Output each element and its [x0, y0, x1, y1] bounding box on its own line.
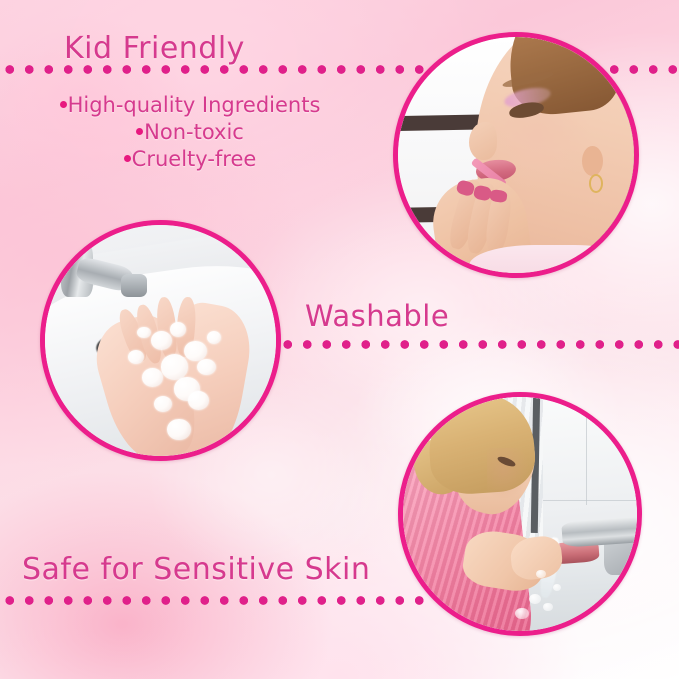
soap-bubble — [142, 368, 163, 386]
soap-bubble — [188, 391, 209, 409]
water-droplet — [529, 594, 541, 605]
soapy-hands-photo — [40, 220, 281, 461]
soap-bubble — [167, 419, 190, 440]
lipgloss-scene — [398, 37, 634, 273]
kid-friendly-heading: Kid Friendly — [64, 31, 245, 66]
photo-clip — [45, 225, 276, 456]
nose — [469, 122, 497, 160]
girl-applying-lip-gloss-photo — [393, 32, 639, 278]
tile-grout-line — [586, 397, 588, 505]
bullet-text: Cruelty-free — [132, 147, 257, 171]
washable-heading: Washable — [305, 299, 449, 333]
soap-bubble — [197, 359, 215, 375]
rinse-scene — [403, 397, 637, 631]
bullet-text: Non-toxic — [144, 120, 244, 144]
soap-bubble — [184, 341, 207, 362]
list-item: Non-toxic — [0, 119, 380, 146]
shoulder — [469, 245, 634, 273]
handwash-scene — [45, 225, 276, 456]
water-droplet — [543, 603, 552, 611]
dotted-divider-middle — [278, 340, 679, 349]
bullet-dot-icon — [60, 101, 67, 108]
bullet-text: High-quality Ingredients — [68, 93, 321, 117]
photo-clip — [398, 37, 634, 273]
list-item: Cruelty-free — [0, 146, 380, 173]
sensitive-skin-heading: Safe for Sensitive Skin — [22, 552, 370, 587]
soap-bubble — [207, 331, 221, 344]
faucet-spout — [561, 516, 637, 547]
dotted-divider-bottom — [0, 596, 430, 605]
soap-bubble — [154, 396, 172, 412]
faucet-tip — [121, 274, 146, 297]
bullet-dot-icon — [124, 155, 131, 162]
bullet-dot-icon — [136, 128, 143, 135]
photo-clip — [403, 397, 637, 631]
list-item: High-quality Ingredients — [0, 92, 380, 119]
earring — [589, 174, 603, 193]
kid-friendly-bullet-list: High-quality Ingredients Non-toxic Cruel… — [0, 92, 380, 173]
tile-grout-line — [532, 500, 637, 502]
face-shading — [487, 448, 529, 499]
soap-bubble — [161, 354, 189, 379]
soap-bubble — [170, 322, 186, 337]
toddler-rinsing-hands-photo — [398, 392, 642, 636]
soap-bubble — [151, 331, 172, 349]
soap-bubble — [128, 350, 144, 364]
